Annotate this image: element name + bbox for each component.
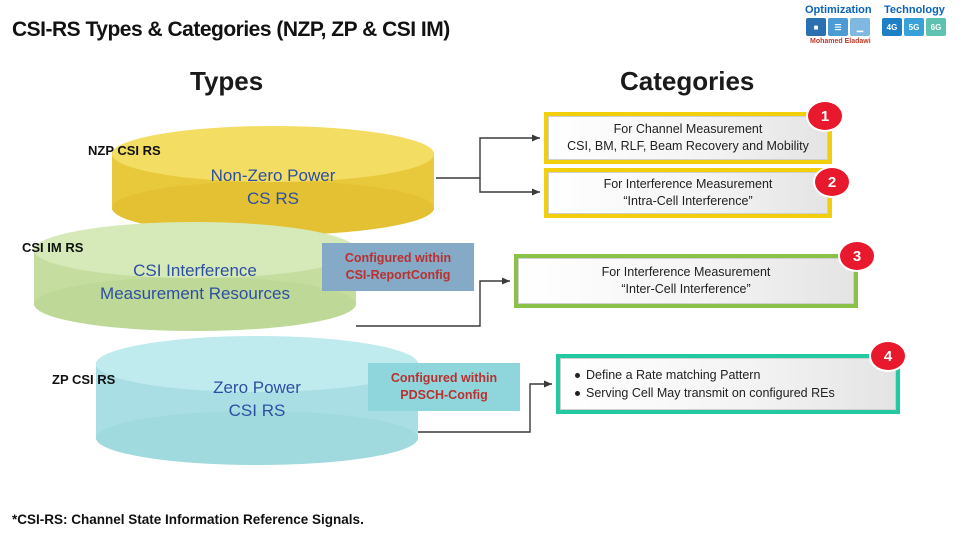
side-label-nzp: NZP CSI RS [88, 143, 161, 158]
side-label-zp: ZP CSI RS [52, 372, 115, 387]
category-1-line1: For Channel Measurement [614, 121, 763, 138]
config-box-line1: Configured within [368, 370, 520, 387]
type-cylinder-csi-im: CSI Interference Measurement Resources [34, 222, 356, 326]
config-box-csi-report-config: Configured within CSI-ReportConfig [322, 243, 474, 291]
category-3-line2: “Inter-Cell Interference” [621, 281, 750, 298]
config-box-line2: CSI-ReportConfig [322, 267, 474, 284]
type-label-im-line2: Measurement Resources [34, 282, 356, 305]
category-2-line2: “Intra-Cell Interference” [623, 193, 752, 210]
category-2-content: For Interference Measurement “Intra-Cell… [548, 172, 828, 214]
bullet-icon [575, 373, 580, 378]
config-box-line2: PDSCH-Config [368, 387, 520, 404]
footnote: *CSI-RS: Channel State Information Refer… [12, 512, 364, 527]
type-label-im-line1: CSI Interference [34, 259, 356, 282]
category-box-3: For Interference Measurement “Inter-Cell… [518, 258, 854, 304]
type-cylinder-nzp: Non-Zero Power CS RS [112, 126, 434, 228]
category-box-2: For Interference Measurement “Intra-Cell… [548, 172, 828, 214]
category-2-line1: For Interference Measurement [604, 176, 773, 193]
category-box-4: Define a Rate matching Pattern Serving C… [560, 358, 896, 410]
category-4-content: Define a Rate matching Pattern Serving C… [560, 358, 896, 410]
category-3-line1: For Interference Measurement [602, 264, 771, 281]
badge-1: 1 [806, 100, 844, 132]
bullet-icon [575, 391, 580, 396]
type-label-nzp-line2: CS RS [112, 187, 434, 210]
category-4-bullet-1-text: Define a Rate matching Pattern [586, 366, 760, 384]
category-1-line2: CSI, BM, RLF, Beam Recovery and Mobility [567, 138, 809, 155]
side-label-csi-im: CSI IM RS [22, 240, 83, 255]
category-4-bullet-2-text: Serving Cell May transmit on configured … [586, 384, 835, 402]
config-box-line1: Configured within [322, 250, 474, 267]
category-3-content: For Interference Measurement “Inter-Cell… [518, 258, 854, 304]
config-box-pdsch-config: Configured within PDSCH-Config [368, 363, 520, 411]
badge-2: 2 [813, 166, 851, 198]
badge-3: 3 [838, 240, 876, 272]
type-label-nzp-line1: Non-Zero Power [112, 164, 434, 187]
category-4-bullet-2: Serving Cell May transmit on configured … [575, 384, 835, 402]
badge-4: 4 [869, 340, 907, 372]
category-box-1: For Channel Measurement CSI, BM, RLF, Be… [548, 116, 828, 160]
category-4-bullet-1: Define a Rate matching Pattern [575, 366, 760, 384]
category-1-content: For Channel Measurement CSI, BM, RLF, Be… [548, 116, 828, 160]
